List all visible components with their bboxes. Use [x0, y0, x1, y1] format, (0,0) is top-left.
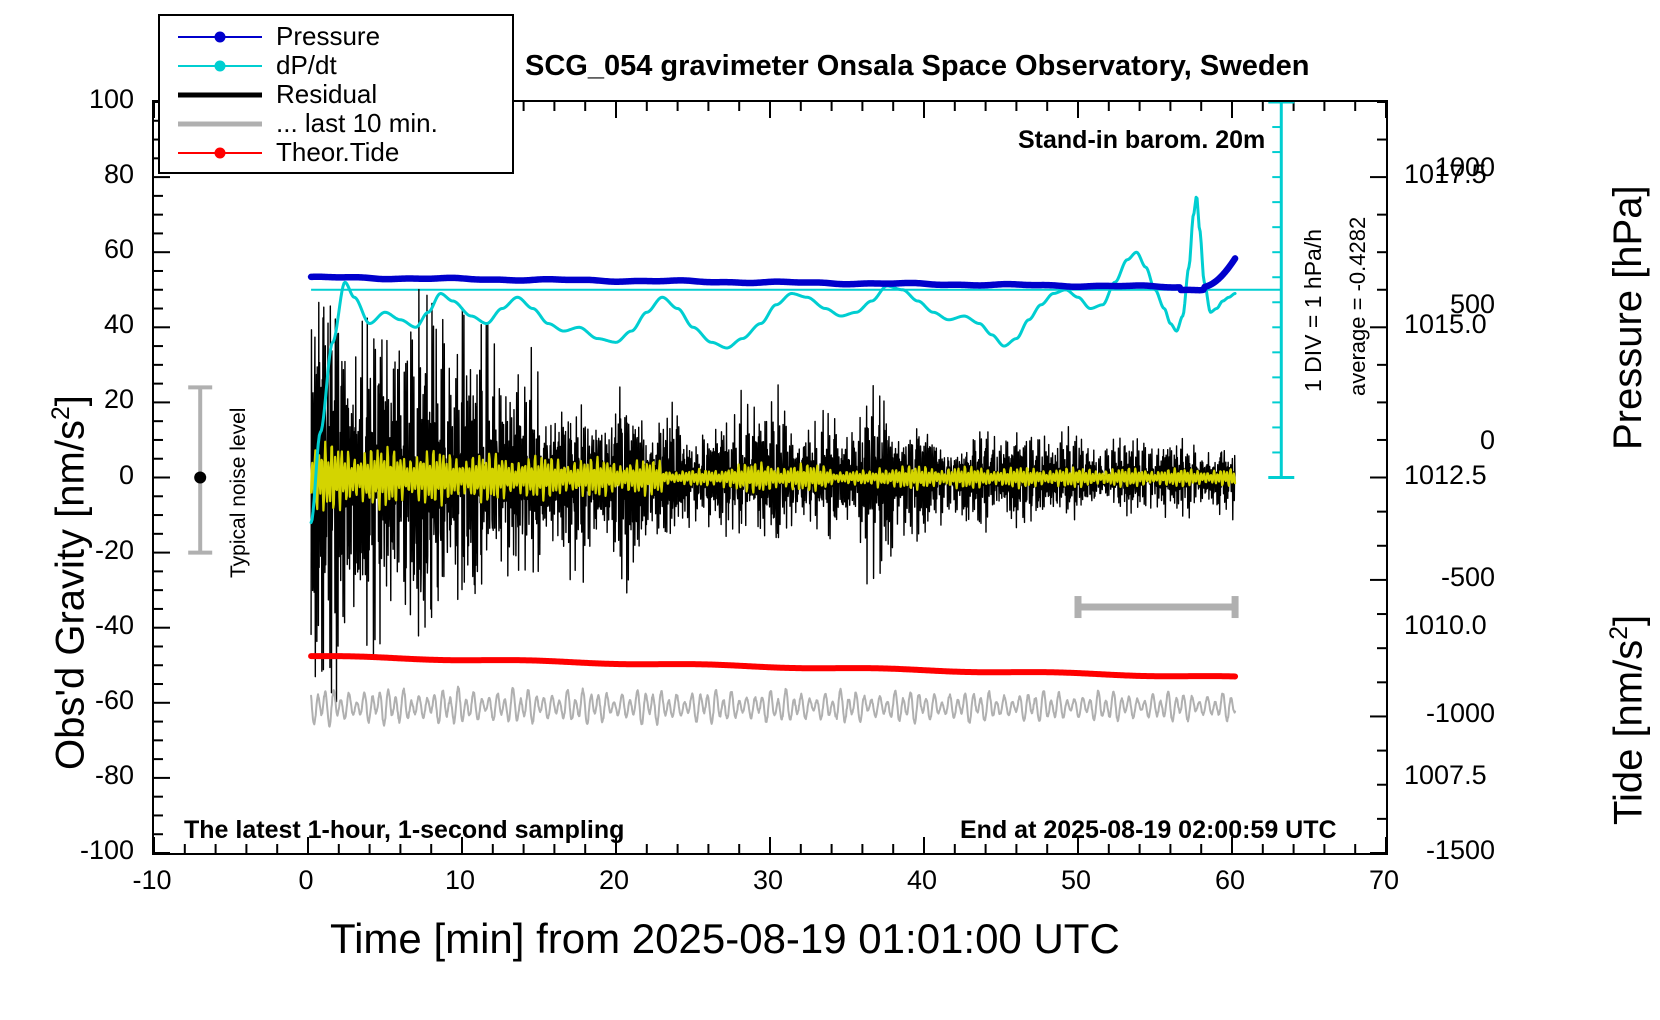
series-theoretical-tide: [311, 656, 1235, 676]
xtick-5: 40: [877, 867, 967, 894]
series-last-10-min: [311, 687, 1235, 727]
ytick-left-7: -40: [14, 612, 134, 639]
xtick-6: 50: [1031, 867, 1121, 894]
ytick-left-10: -100: [14, 837, 134, 864]
annotation-standin-barom: Stand-in barom. 20m: [1018, 126, 1265, 155]
ytick-tide-4: -1000: [1400, 700, 1495, 727]
ytick-left-8: -60: [14, 687, 134, 714]
ytick-pressure-2: 1012.5: [1404, 462, 1487, 489]
ytick-tide-3: -500: [1400, 564, 1495, 591]
plot-svg: [154, 102, 1386, 853]
annotation-sampling: The latest 1-hour, 1-second sampling: [184, 816, 624, 845]
chart-title: SCG_054 gravimeter Onsala Space Observat…: [525, 50, 1309, 83]
xtick-1: 0: [261, 867, 351, 894]
annotation-average: average = -0.4282: [1345, 217, 1371, 396]
legend-item-theortide[interactable]: Theor.Tide: [178, 138, 512, 167]
ytick-left-3: 40: [14, 311, 134, 338]
xtick-8: 70: [1339, 867, 1429, 894]
legend-label-pressure: Pressure: [262, 21, 380, 52]
legend: Pressure dP/dt Residual ... last 10 min.: [158, 14, 514, 174]
xtick-7: 60: [1185, 867, 1275, 894]
annotation-end-time: End at 2025-08-19 02:00:59 UTC: [960, 816, 1337, 845]
legend-swatch-dpdt: [178, 56, 262, 76]
legend-swatch-pressure: [178, 27, 262, 47]
xtick-4: 30: [723, 867, 813, 894]
ytick-left-9: -80: [14, 762, 134, 789]
legend-label-residual: Residual: [262, 79, 377, 110]
series-pressure: [311, 258, 1235, 290]
ytick-tide-2: 0: [1400, 427, 1495, 454]
legend-item-last10[interactable]: ... last 10 min.: [178, 109, 512, 138]
ytick-tide-1: 500: [1400, 291, 1495, 318]
ytick-left-4: 20: [14, 386, 134, 413]
xtick-2: 10: [415, 867, 505, 894]
xtick-3: 20: [569, 867, 659, 894]
annotation-noise-level: Typical noise level: [227, 408, 251, 578]
ytick-left-0: 100: [14, 86, 134, 113]
legend-label-dpdt: dP/dt: [262, 50, 337, 81]
ytick-left-5: 0: [14, 462, 134, 489]
ytick-left-1: 80: [14, 161, 134, 188]
legend-swatch-last10: [178, 114, 262, 134]
legend-item-dpdt[interactable]: dP/dt: [178, 51, 512, 80]
series-residual: [311, 290, 1235, 702]
y-axis-title-tide: Tide [nm/s2]: [1606, 615, 1651, 825]
ytick-tide-0: 1000: [1400, 154, 1495, 181]
ytick-pressure-4: 1007.5: [1404, 762, 1487, 789]
ytick-pressure-3: 1010.0: [1404, 612, 1487, 639]
ytick-tide-5: -1500: [1400, 837, 1495, 864]
plot-area: [152, 100, 1388, 855]
noise-level-point: [194, 472, 206, 484]
ytick-left-6: -20: [14, 537, 134, 564]
legend-swatch-theortide: [178, 143, 262, 163]
chart-canvas: SCG_054 gravimeter Onsala Space Observat…: [0, 0, 1660, 1020]
y-axis-title-pressure: Pressure [hPa]: [1606, 185, 1651, 450]
legend-item-residual[interactable]: Residual: [178, 80, 512, 109]
x-axis-title: Time [min] from 2025-08-19 01:01:00 UTC: [330, 915, 1120, 963]
legend-label-last10: ... last 10 min.: [262, 108, 438, 139]
legend-item-pressure[interactable]: Pressure: [178, 22, 512, 51]
ytick-left-2: 60: [14, 236, 134, 263]
legend-label-theortide: Theor.Tide: [262, 137, 399, 168]
legend-swatch-residual: [178, 85, 262, 105]
annotation-div-scale: 1 DIV = 1 hPa/h: [1300, 229, 1327, 392]
xtick-0: -10: [107, 867, 197, 894]
